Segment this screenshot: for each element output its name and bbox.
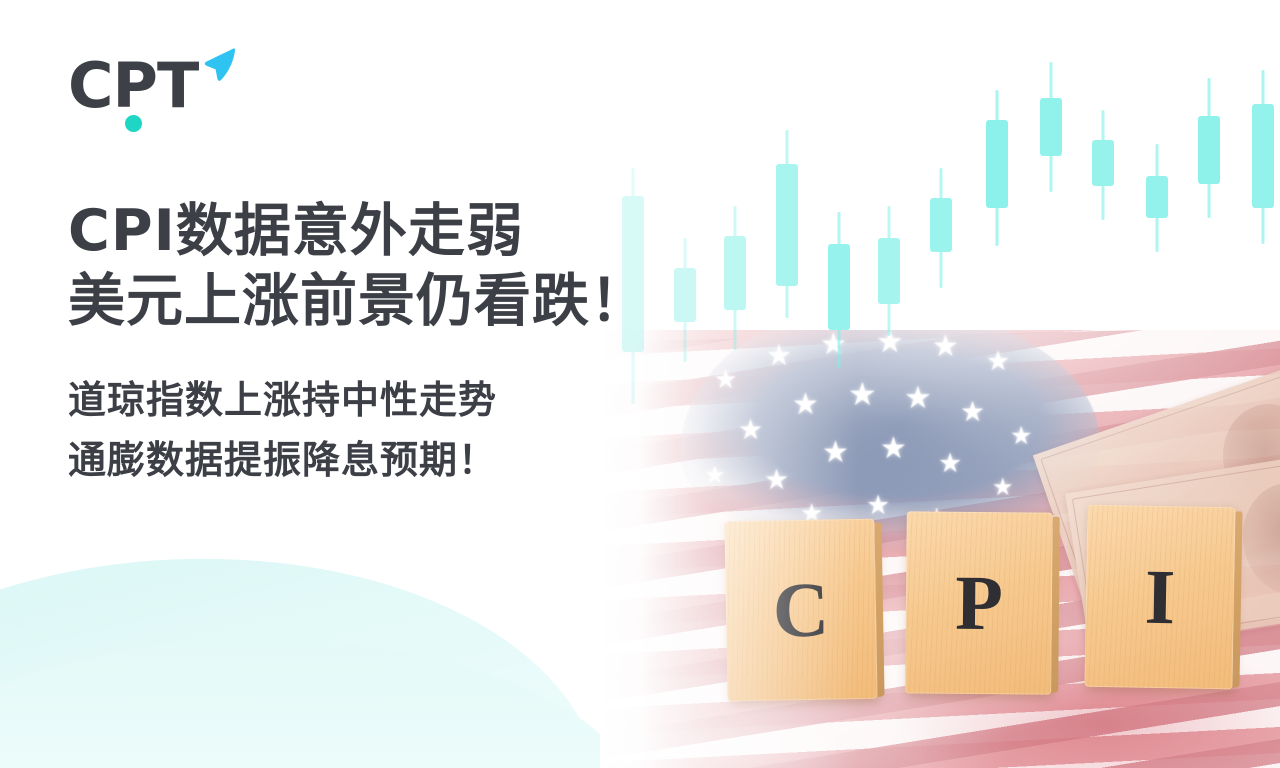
letter-block-p: P	[905, 511, 1053, 694]
candlestick-wick	[1156, 144, 1159, 252]
cpt-logo[interactable]: CPT	[68, 55, 243, 135]
candlestick-wick	[888, 206, 891, 336]
candlestick-wick	[1050, 62, 1053, 192]
candlestick-body	[1040, 98, 1062, 156]
headline-block: CPI数据意外走弱 美元上涨前景仍看跌！	[68, 196, 768, 336]
paper-plane-arrow-icon	[190, 47, 238, 91]
letter-block-c-glyph: C	[772, 571, 830, 650]
candlestick-wick	[786, 130, 789, 318]
candlestick-wick	[996, 90, 999, 246]
decorative-wave-shape-secondary	[0, 640, 640, 768]
subtitle-line-2: 通膨数据提振降息预期！	[68, 430, 688, 490]
letter-block-i-glyph: I	[1144, 558, 1176, 637]
candlestick-body	[1198, 116, 1220, 184]
hero-photo: ★ ★ ★ ★ ★ ★ ★ ★ ★ ★ ★ ★ ★ ★ ★ ★ ★ ★ ★ ★	[600, 0, 1280, 768]
candlestick-body	[828, 244, 850, 330]
subtitle-line-1: 道琼指数上涨持中性走势	[68, 370, 688, 430]
candlestick-body	[986, 120, 1008, 208]
cpt-logo-text: CPT	[68, 49, 198, 122]
headline-line-2-text: 美元上涨前景仍看跌！	[68, 268, 648, 334]
candlestick-body	[930, 198, 952, 252]
letter-block-p-glyph: P	[955, 564, 1003, 642]
headline-line-2: 美元上涨前景仍看跌！	[68, 266, 768, 336]
candlestick-body	[1252, 104, 1274, 208]
candlestick-body	[878, 238, 900, 304]
candlestick-body	[776, 164, 798, 286]
subtitle-block: 道琼指数上涨持中性走势 通膨数据提振降息预期！	[68, 370, 688, 490]
candlestick-wick	[940, 168, 943, 288]
headline-line-1: CPI数据意外走弱	[68, 196, 768, 266]
letter-block-c: C	[724, 519, 877, 702]
cpi-promo-banner: ★ ★ ★ ★ ★ ★ ★ ★ ★ ★ ★ ★ ★ ★ ★ ★ ★ ★ ★ ★	[0, 0, 1280, 768]
candlestick-body	[1092, 140, 1114, 186]
teal-dot-icon	[125, 115, 142, 132]
candlestick-body	[1146, 176, 1168, 218]
headline-line-1-text: CPI数据意外走弱	[68, 198, 524, 264]
decorative-wave-shape	[0, 531, 615, 768]
candlestick-wick	[1262, 70, 1265, 244]
letter-block-i: I	[1084, 505, 1235, 690]
candlestick-wick	[1102, 110, 1105, 220]
candlestick-wick	[1208, 78, 1211, 218]
